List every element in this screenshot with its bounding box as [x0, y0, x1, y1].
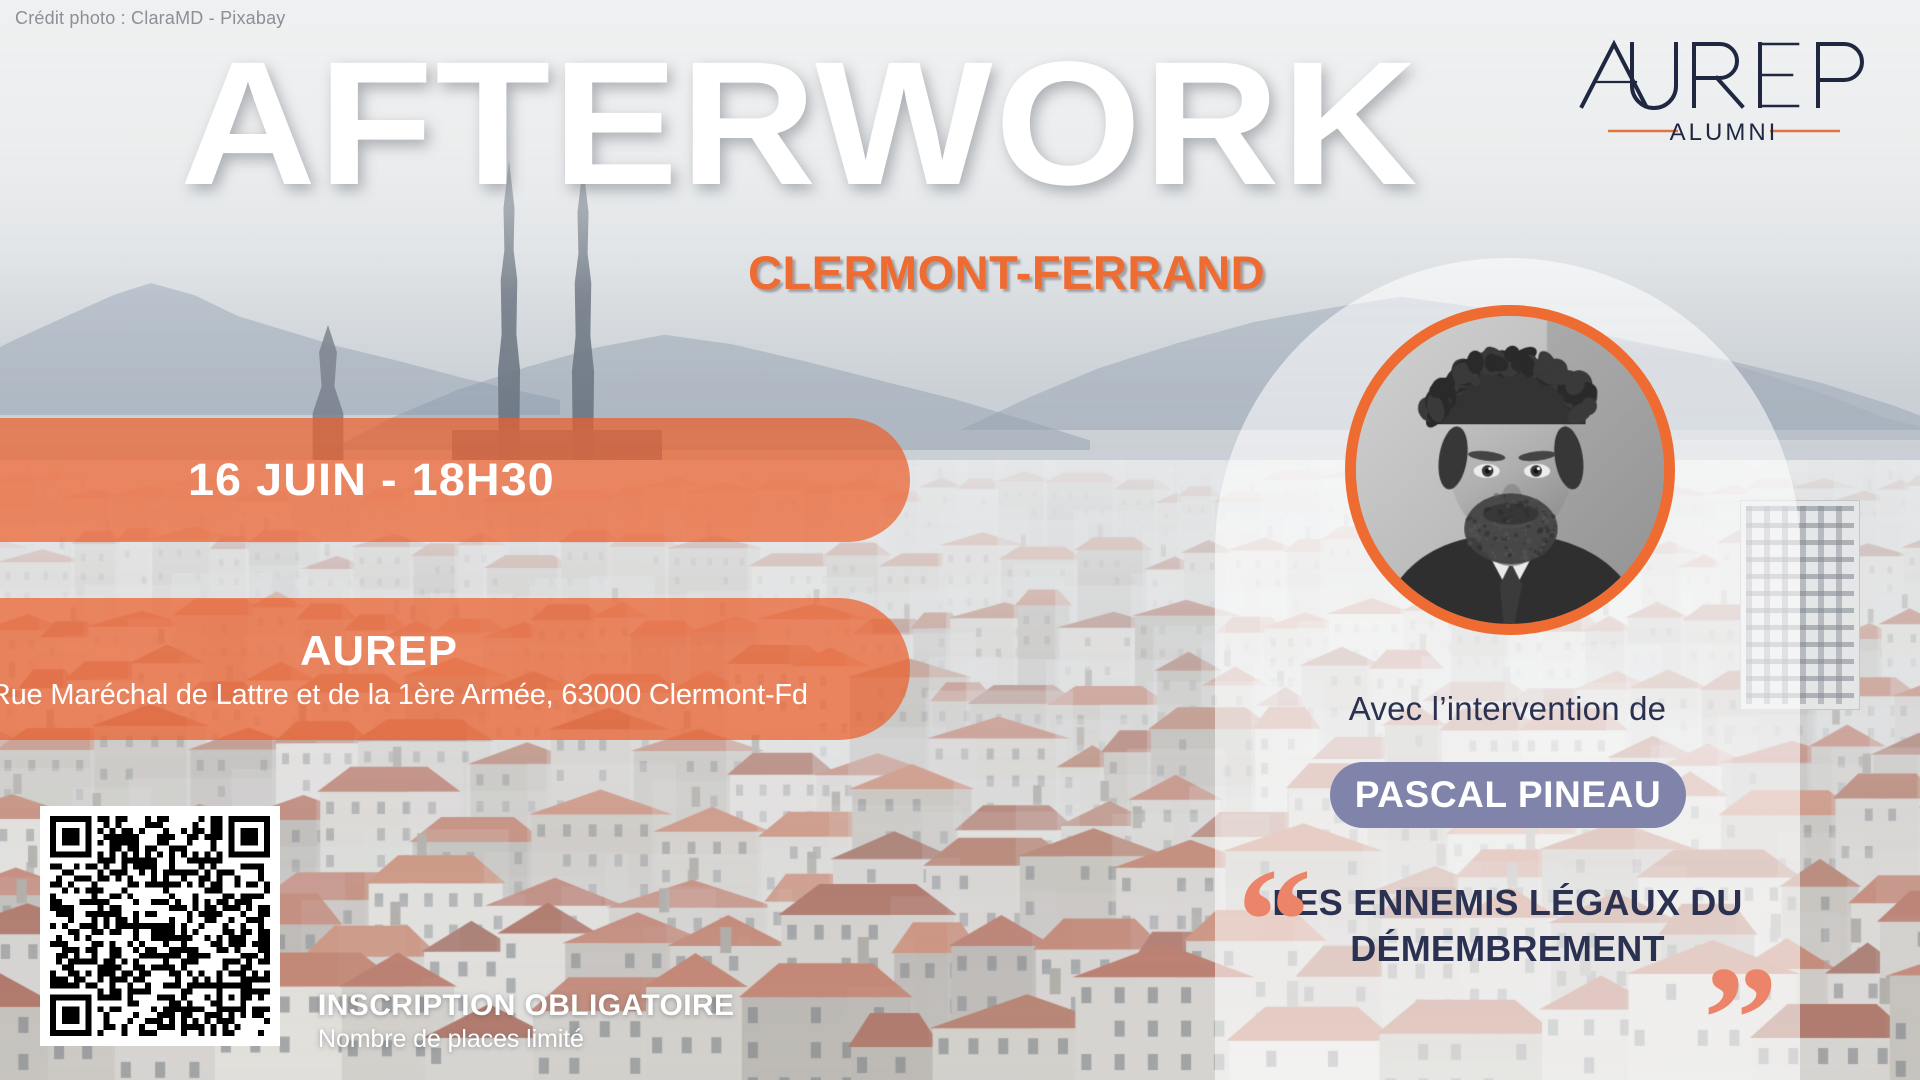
logo-subtitle-alumni: ALUMNI [1670, 119, 1779, 142]
registration-qr-code[interactable] [40, 806, 280, 1046]
talk-title-block: “ ” LES ENNEMIS LÉGAUX DU DÉMEMBREMENT [1215, 880, 1800, 971]
event-venue-name: AUREP [300, 627, 458, 675]
aurep-logo-mark: ALUMNI [1574, 30, 1874, 142]
event-date-banner: 16 JUIN - 18H30 [0, 418, 910, 542]
registration-info: INSCRIPTION OBLIGATOIRE Nombre de places… [318, 989, 734, 1054]
registration-subline: Nombre de places limité [318, 1025, 734, 1054]
event-date-text: 16 JUIN - 18H30 [188, 454, 555, 506]
speaker-intro-label: Avec l’intervention de [1215, 690, 1800, 728]
speaker-name-badge: PASCAL PINEAU [1330, 762, 1686, 828]
event-venue-address: 36 Rue Maréchal de Lattre et de la 1ère … [0, 679, 808, 712]
event-poster: Crédit photo : ClaraMD - Pixabay [0, 0, 1920, 1080]
talk-title-line-1: LES ENNEMIS LÉGAUX DU [1272, 882, 1742, 923]
talk-title-line-2: DÉMEMBREMENT [1350, 928, 1664, 969]
speaker-avatar [1345, 305, 1675, 635]
aurep-alumni-logo: ALUMNI [1574, 30, 1874, 142]
event-venue-banner: AUREP 36 Rue Maréchal de Lattre et de la… [0, 598, 910, 740]
quote-close-icon: ” [1703, 944, 1778, 1080]
speaker-portrait-image [1356, 316, 1664, 624]
page-title: AFTERWORK [180, 36, 1420, 212]
qr-code-canvas[interactable] [50, 816, 270, 1036]
registration-headline: INSCRIPTION OBLIGATOIRE [318, 989, 734, 1023]
page-subtitle-city: CLERMONT-FERRAND [748, 245, 1265, 300]
quote-open-icon: “ [1237, 846, 1312, 996]
speaker-name-text: PASCAL PINEAU [1355, 774, 1662, 816]
